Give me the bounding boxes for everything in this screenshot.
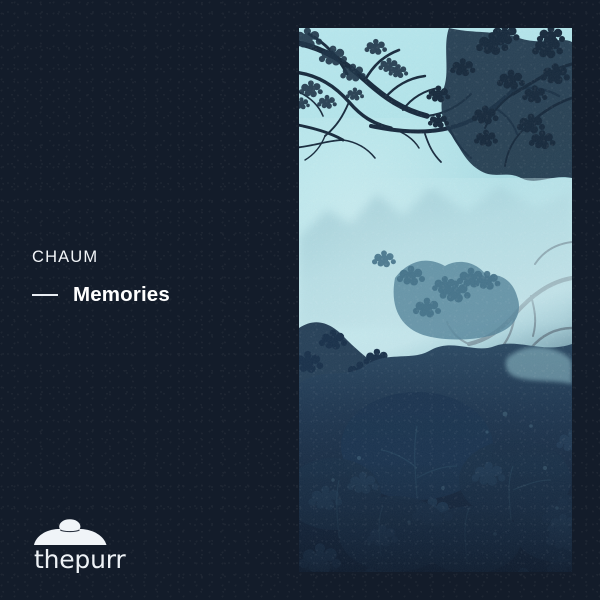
title-rule — [32, 294, 58, 296]
album-cover: CHAUM Memories thepurr — [0, 0, 600, 600]
release-title: Memories — [73, 285, 170, 306]
artwork-illustration — [299, 28, 572, 572]
sleeping-cat-icon — [33, 519, 111, 545]
title-row: Memories — [32, 285, 170, 306]
artist-name: CHAUM — [32, 249, 170, 266]
label-name: thepurr — [34, 547, 125, 572]
credits-block: CHAUM Memories — [32, 249, 170, 305]
forest-canopy-photo — [299, 28, 572, 572]
label-logo: thepurr — [33, 519, 125, 572]
